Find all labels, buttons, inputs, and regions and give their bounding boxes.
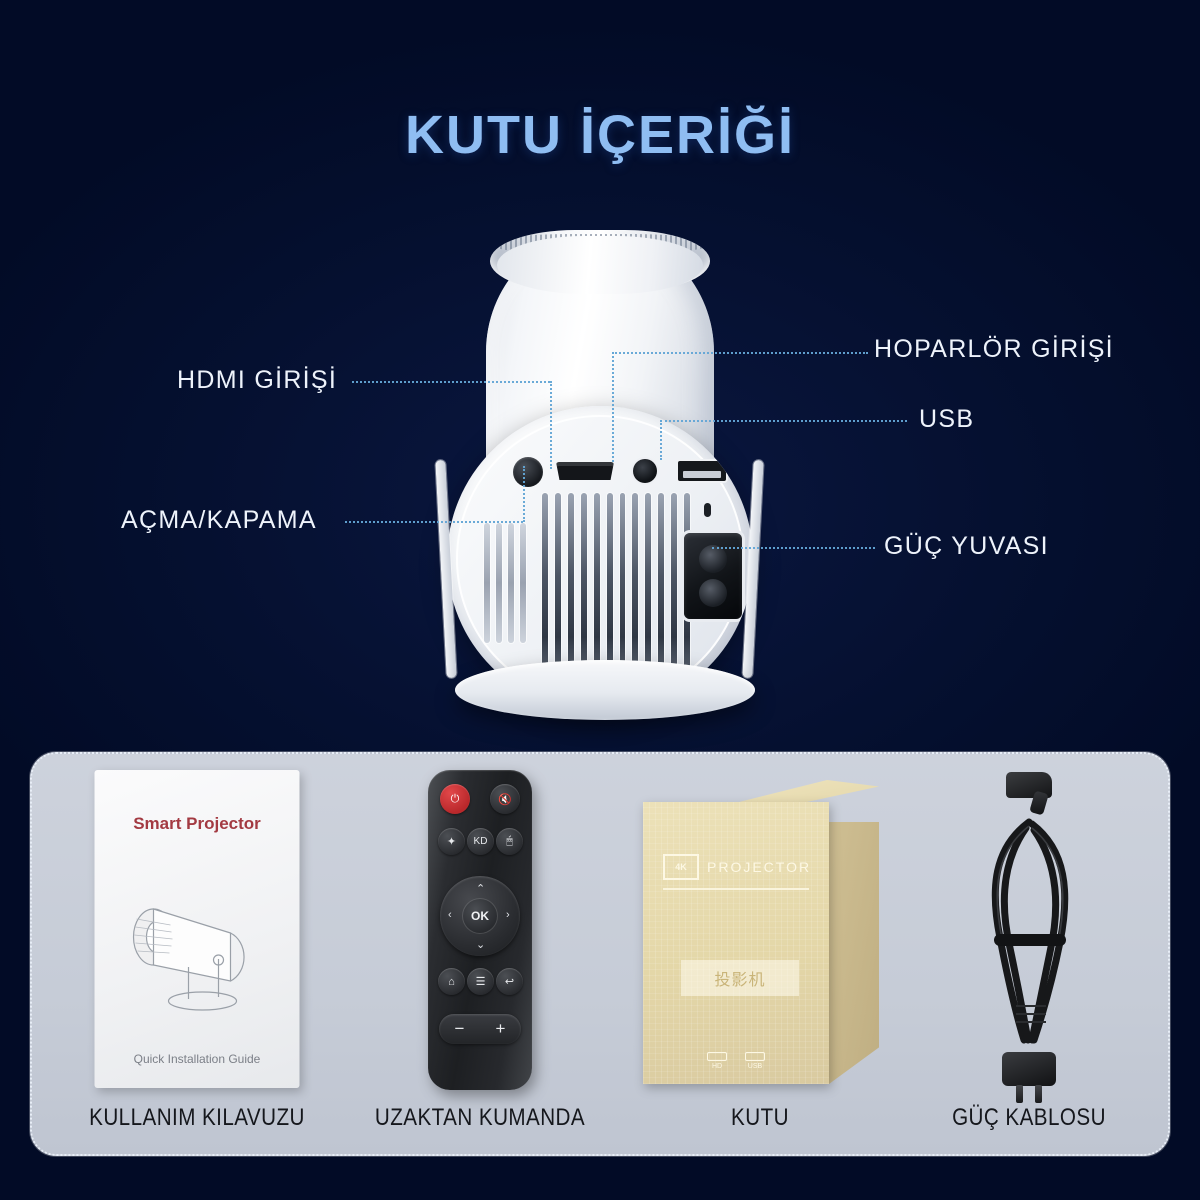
remote-control: ⏻ 🔇 ✦ KD 🖱 ⌃ ⌄ ‹ › OK ⌂ ☰ ↩ − + xyxy=(428,770,532,1090)
callout-socket-label: GÜÇ YUVASI xyxy=(884,532,1049,561)
audio-jack-port xyxy=(633,459,657,483)
socket-pin-bottom xyxy=(699,579,727,607)
leader-line-hdmi-v xyxy=(550,381,552,469)
remote-mute-icon: 🔇 xyxy=(490,784,520,814)
retail-box: 4K PROJECTOR 投影机 HD USB xyxy=(635,774,885,1092)
box-divider xyxy=(663,888,809,890)
leader-line-hdmi-h xyxy=(352,381,550,383)
remote-volume-down-icon: − xyxy=(455,1019,465,1039)
stand-base xyxy=(455,660,755,720)
manual-cover-subtitle: Quick Installation Guide xyxy=(95,1052,300,1066)
box-side-face xyxy=(829,822,879,1084)
callout-power-label: AÇMA/KAPAMA xyxy=(121,506,317,535)
power-button-port xyxy=(513,457,543,487)
manual-projector-drawing xyxy=(115,875,280,1015)
plug-prong-right xyxy=(1035,1085,1042,1103)
caption-cable: GÜÇ KABLOSU xyxy=(922,1104,1137,1132)
projector-illustration xyxy=(0,210,1200,740)
callout-hdmi-label: HDMI GİRİŞİ xyxy=(177,366,337,395)
caption-manual: KULLANIM KILAVUZU xyxy=(71,1104,324,1132)
leader-line-usb-h xyxy=(660,420,907,422)
accessory-manual: Smart Projector xyxy=(50,754,344,1158)
cable-us-plug xyxy=(1002,1052,1056,1086)
accessory-box: 4K PROJECTOR 投影机 HD USB KUTU xyxy=(616,754,904,1158)
remote-volume-up-icon: + xyxy=(496,1019,506,1039)
remote-dpad: ⌃ ⌄ ‹ › OK xyxy=(440,876,520,956)
callout-usb-label: USB xyxy=(919,405,974,434)
remote-back-icon: ↩ xyxy=(496,968,523,995)
box-brand-row: 4K PROJECTOR xyxy=(663,854,811,880)
remote-ok-button: OK xyxy=(462,898,498,934)
accessory-cable: GÜÇ KABLOSU xyxy=(904,754,1154,1158)
leader-line-power-v xyxy=(523,466,525,522)
box-hd-icon: HD xyxy=(707,1052,727,1070)
remote-kd-button: KD xyxy=(467,828,494,855)
leader-line-speaker-v xyxy=(612,352,614,462)
leader-line-socket-h xyxy=(712,547,875,549)
caption-remote: UZAKTAN KUMANDA xyxy=(363,1104,597,1132)
box-brand-text: PROJECTOR xyxy=(707,859,811,875)
cable-right-angle-connector xyxy=(1006,772,1052,798)
box-label-text: 投影机 xyxy=(681,960,799,996)
hdmi-port xyxy=(556,462,614,480)
remote-menu-icon: ☰ xyxy=(467,968,494,995)
remote-down-icon: ⌄ xyxy=(476,938,485,951)
manual-booklet: Smart Projector xyxy=(95,770,300,1088)
box-badge: 4K xyxy=(663,854,699,880)
power-cable xyxy=(954,772,1104,1092)
remote-home-icon: ⌂ xyxy=(438,968,465,995)
remote-right-icon: › xyxy=(506,909,510,921)
cable-coil xyxy=(954,818,1104,1048)
remote-left-icon: ‹ xyxy=(448,909,452,921)
projector-side-vents xyxy=(484,523,536,643)
callout-speaker-label: HOPARLÖR GİRİŞİ xyxy=(874,335,1114,364)
projector-dome-cap xyxy=(497,236,703,294)
socket-pin-top xyxy=(699,545,727,573)
leader-line-usb-v xyxy=(660,420,662,460)
infographic-page: KUTU İÇERİĞİ xyxy=(0,0,1200,1200)
remote-up-icon: ⌃ xyxy=(476,882,485,895)
remote-gear-icon: ✦ xyxy=(438,828,465,855)
power-socket-port xyxy=(684,533,742,619)
page-title: KUTU İÇERİĞİ xyxy=(0,104,1200,166)
remote-mouse-icon: 🖱 xyxy=(496,828,523,855)
leader-line-power-h xyxy=(345,521,523,523)
box-usb-icon: USB xyxy=(745,1052,765,1070)
manual-cover-title: Smart Projector xyxy=(95,814,300,834)
accessory-remote: ⏻ 🔇 ✦ KD 🖱 ⌃ ⌄ ‹ › OK ⌂ ☰ ↩ − + xyxy=(344,754,616,1158)
reset-hole xyxy=(704,503,711,517)
remote-power-icon: ⏻ xyxy=(440,784,470,814)
box-port-icons: HD USB xyxy=(707,1052,765,1070)
usb-port xyxy=(678,461,726,481)
accessories-panel: Smart Projector xyxy=(30,752,1170,1156)
caption-box: KUTU xyxy=(636,1104,884,1132)
plug-prong-left xyxy=(1016,1085,1023,1103)
leader-line-speaker-h xyxy=(612,352,868,354)
box-front-face: 4K PROJECTOR 投影机 HD USB xyxy=(643,802,829,1084)
remote-volume-rocker: − + xyxy=(439,1014,521,1044)
